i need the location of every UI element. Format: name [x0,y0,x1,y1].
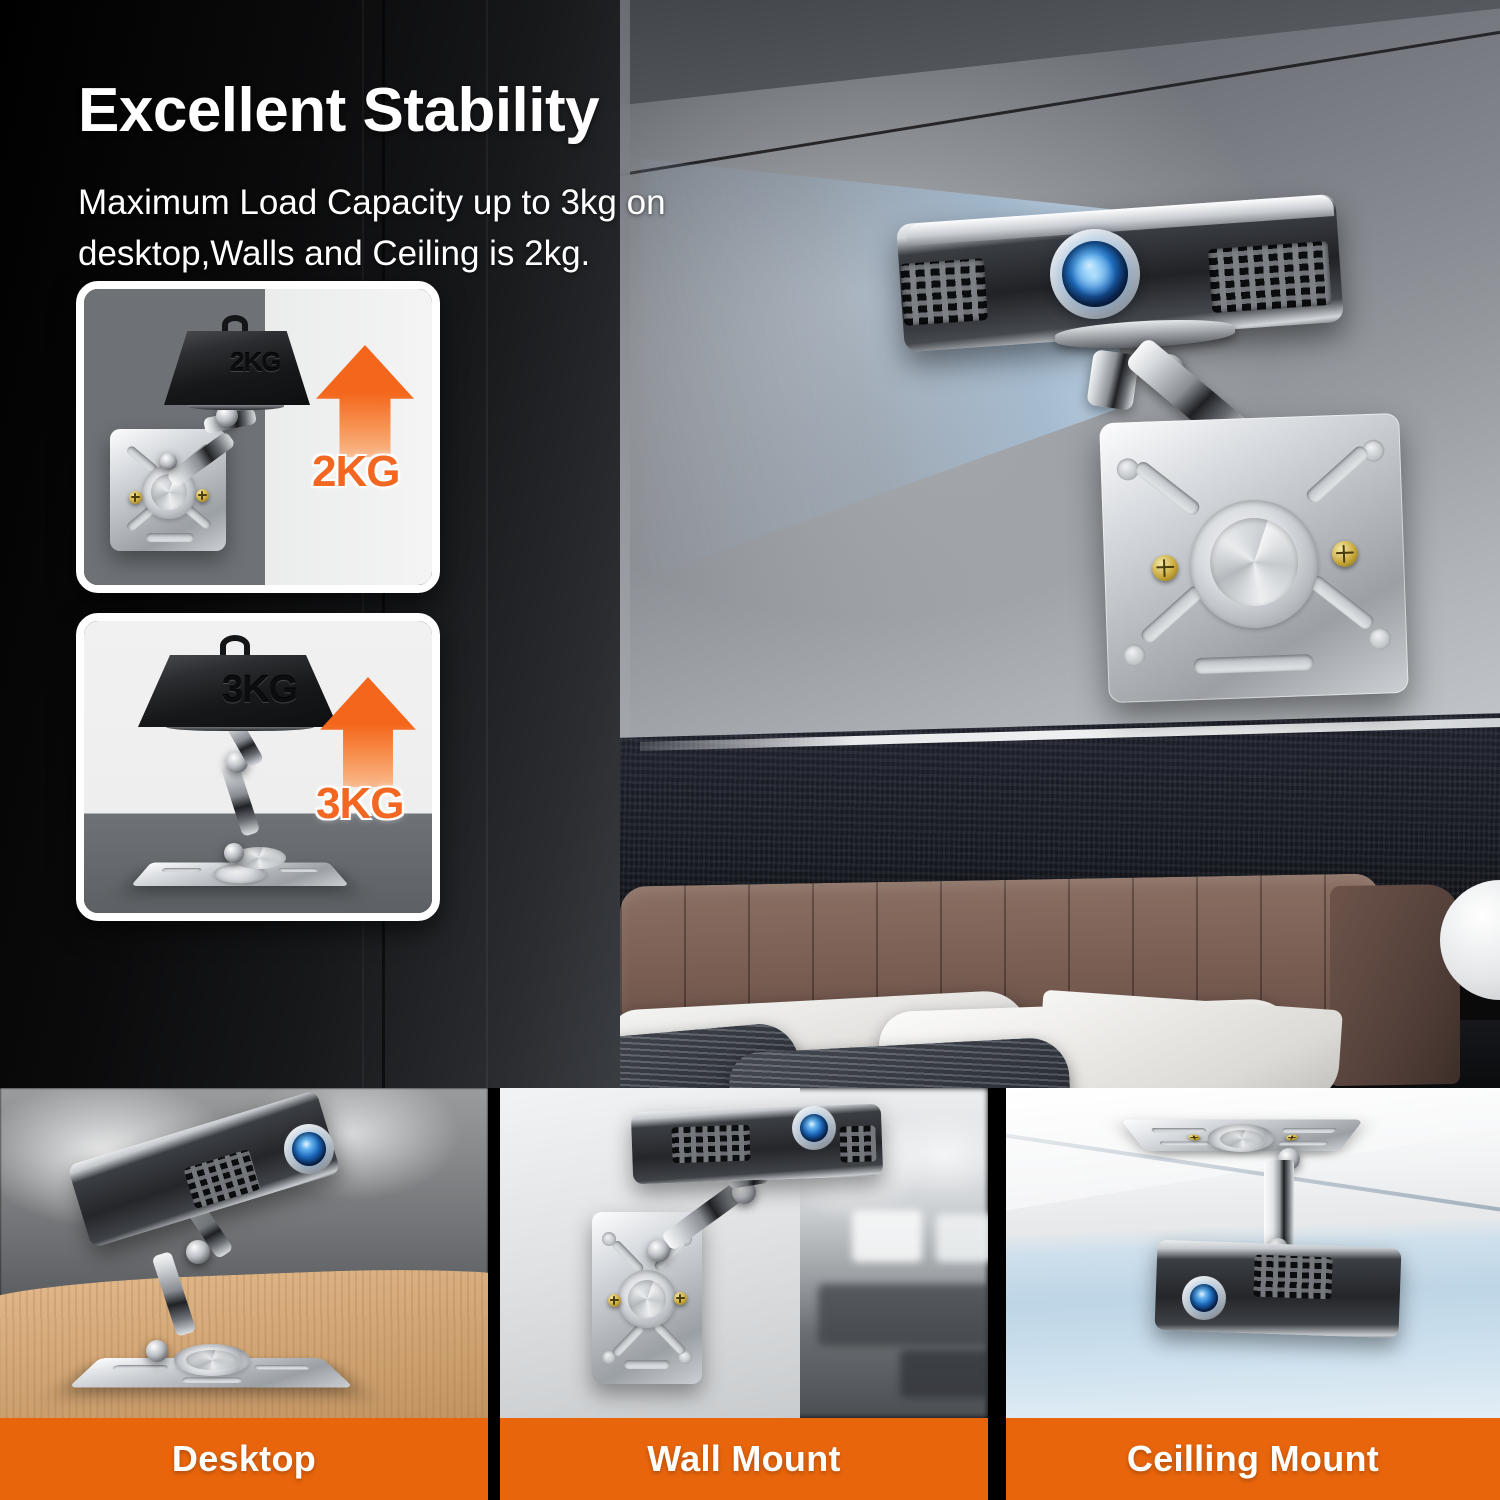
mounting-screw [1152,555,1179,582]
projector-vent-grille [839,1125,876,1162]
projector-vent-grille [1253,1255,1332,1300]
panel-ceiling-mount: Ceilling Mount [1006,1088,1500,1500]
projector-lens [292,1132,326,1166]
load-capacity-card-wall: 2KG 2KG [76,281,440,593]
panel-wall-image [500,1088,988,1418]
weight-label: 2KG [230,347,280,378]
product-feature-image: Excellent Stability Maximum Load Capacit… [0,0,1500,1500]
mounting-screw [129,491,142,504]
projector-vent-grille [1208,241,1332,313]
bed-headboard-side [1330,884,1460,1086]
projector-lens [1190,1284,1218,1312]
weight-hook [220,635,250,657]
panel-ceiling-image [1006,1088,1500,1418]
panel-caption-wall: Wall Mount [500,1418,988,1500]
wall-mount-plate [1099,413,1409,703]
caption-text: Wall Mount [647,1438,841,1480]
plate-slot [1133,459,1202,518]
caption-text: Ceilling Mount [1127,1438,1379,1480]
projector-device [880,195,1360,375]
capacity-label: 2KG [312,447,399,497]
mount-mode-panels: Desktop [0,1088,1500,1500]
mounting-screw [1331,540,1358,567]
mounting-screw [1285,1134,1299,1140]
plate-slot [1304,444,1371,506]
caption-text: Desktop [172,1438,316,1480]
plate-slot [1307,573,1376,632]
panel-desktop: Desktop [0,1088,488,1500]
weight-label: 3KG [222,669,297,712]
panel-caption-ceiling: Ceilling Mount [1006,1418,1500,1500]
mounting-screw [608,1294,621,1307]
panel-desktop-image [0,1088,488,1418]
wood-desk-surface [0,1263,488,1418]
projector-lens [800,1114,828,1142]
page-subtitle: Maximum Load Capacity up to 3kg on deskt… [78,178,838,280]
capacity-label: 3KG [316,779,403,829]
panel-caption-desktop: Desktop [0,1418,488,1500]
mounting-screw [1187,1134,1201,1140]
ceiling-drop-post [1264,1160,1294,1248]
page-title: Excellent Stability [78,80,599,142]
projector-vent-grille [900,258,988,326]
plate-bottom-slot [1193,654,1313,674]
plate-slot [1139,583,1206,645]
panel-wall-mount: Wall Mount [500,1088,988,1500]
mounting-screw [674,1292,687,1305]
projector-vent-grille [671,1125,750,1164]
hero-scene: Excellent Stability Maximum Load Capacit… [0,0,1500,1088]
load-capacity-card-desktop: 3KG 3KG [76,613,440,921]
mounting-screw [196,489,209,502]
